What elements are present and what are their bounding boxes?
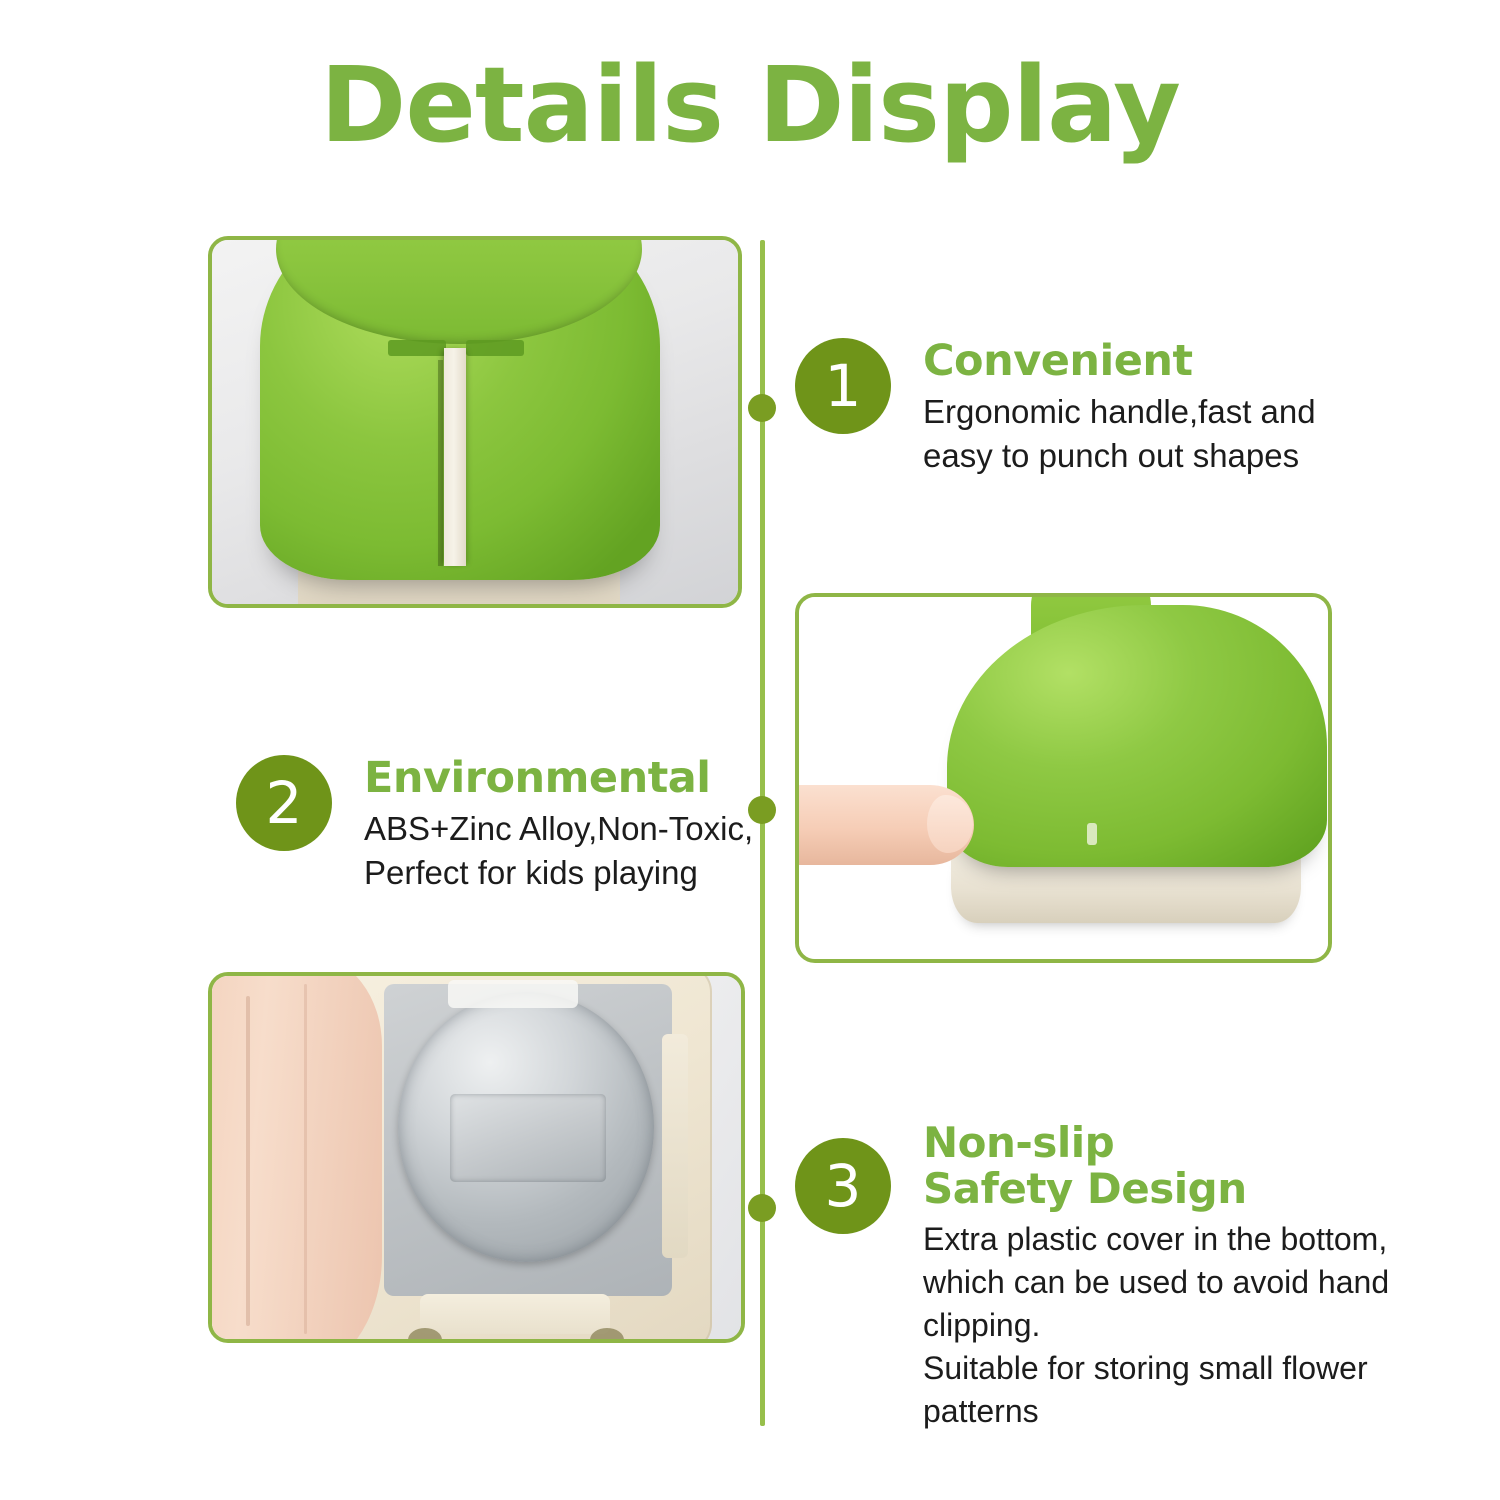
callout-non-slip-safety-design: 3 Non-slip Safety Design Extra plastic c… bbox=[795, 1120, 1415, 1433]
callout-heading-1: Convenient bbox=[923, 338, 1395, 384]
callout-convenient: 1 Convenient Ergonomic handle,fast and e… bbox=[795, 338, 1395, 478]
callout-body-3: Extra plastic cover in the bottom, which… bbox=[923, 1218, 1415, 1432]
callout-body-1: Ergonomic handle,fast and easy to punch … bbox=[923, 390, 1395, 478]
page-title: Details Display bbox=[0, 48, 1500, 162]
photo-punch-front-content bbox=[212, 240, 738, 604]
hand-crease-2 bbox=[304, 984, 307, 1334]
punch-center-slot bbox=[444, 348, 466, 566]
callout-number-2: 2 bbox=[236, 755, 332, 851]
timeline-dot-1 bbox=[748, 394, 776, 422]
shell-rail-right bbox=[662, 1034, 688, 1258]
timeline-dot-3 bbox=[748, 1194, 776, 1222]
callout-body-2: ABS+Zinc Alloy,Non-Toxic, Perfect for ki… bbox=[364, 807, 796, 895]
callout-environmental: 2 Environmental ABS+Zinc Alloy,Non-Toxic… bbox=[236, 755, 796, 895]
plastic-clip-bottom bbox=[420, 1294, 610, 1334]
callout-text-3: Non-slip Safety Design Extra plastic cov… bbox=[923, 1120, 1415, 1433]
punch-notch-right bbox=[466, 340, 524, 356]
callout-number-3: 3 bbox=[795, 1138, 891, 1234]
punch-notch-left bbox=[388, 340, 446, 356]
punch-dome-tab bbox=[1087, 823, 1097, 845]
callout-heading-2: Environmental bbox=[364, 755, 796, 801]
photo-finger-press-content bbox=[799, 597, 1328, 959]
product-photo-finger-press bbox=[795, 593, 1332, 963]
callout-number-1: 1 bbox=[795, 338, 891, 434]
callout-heading-3: Non-slip Safety Design bbox=[923, 1120, 1415, 1212]
product-photo-punch-front bbox=[208, 236, 742, 608]
metal-die-plate bbox=[450, 1094, 606, 1182]
hand-crease-1 bbox=[246, 996, 250, 1326]
product-photo-die-bottom bbox=[208, 972, 745, 1343]
hand bbox=[212, 976, 382, 1339]
plastic-clip-top bbox=[448, 980, 578, 1008]
punch-seam-line bbox=[438, 360, 443, 566]
callout-text-1: Convenient Ergonomic handle,fast and eas… bbox=[923, 338, 1395, 478]
photo-die-bottom-content bbox=[212, 976, 741, 1339]
callout-text-2: Environmental ABS+Zinc Alloy,Non-Toxic, … bbox=[364, 755, 796, 895]
